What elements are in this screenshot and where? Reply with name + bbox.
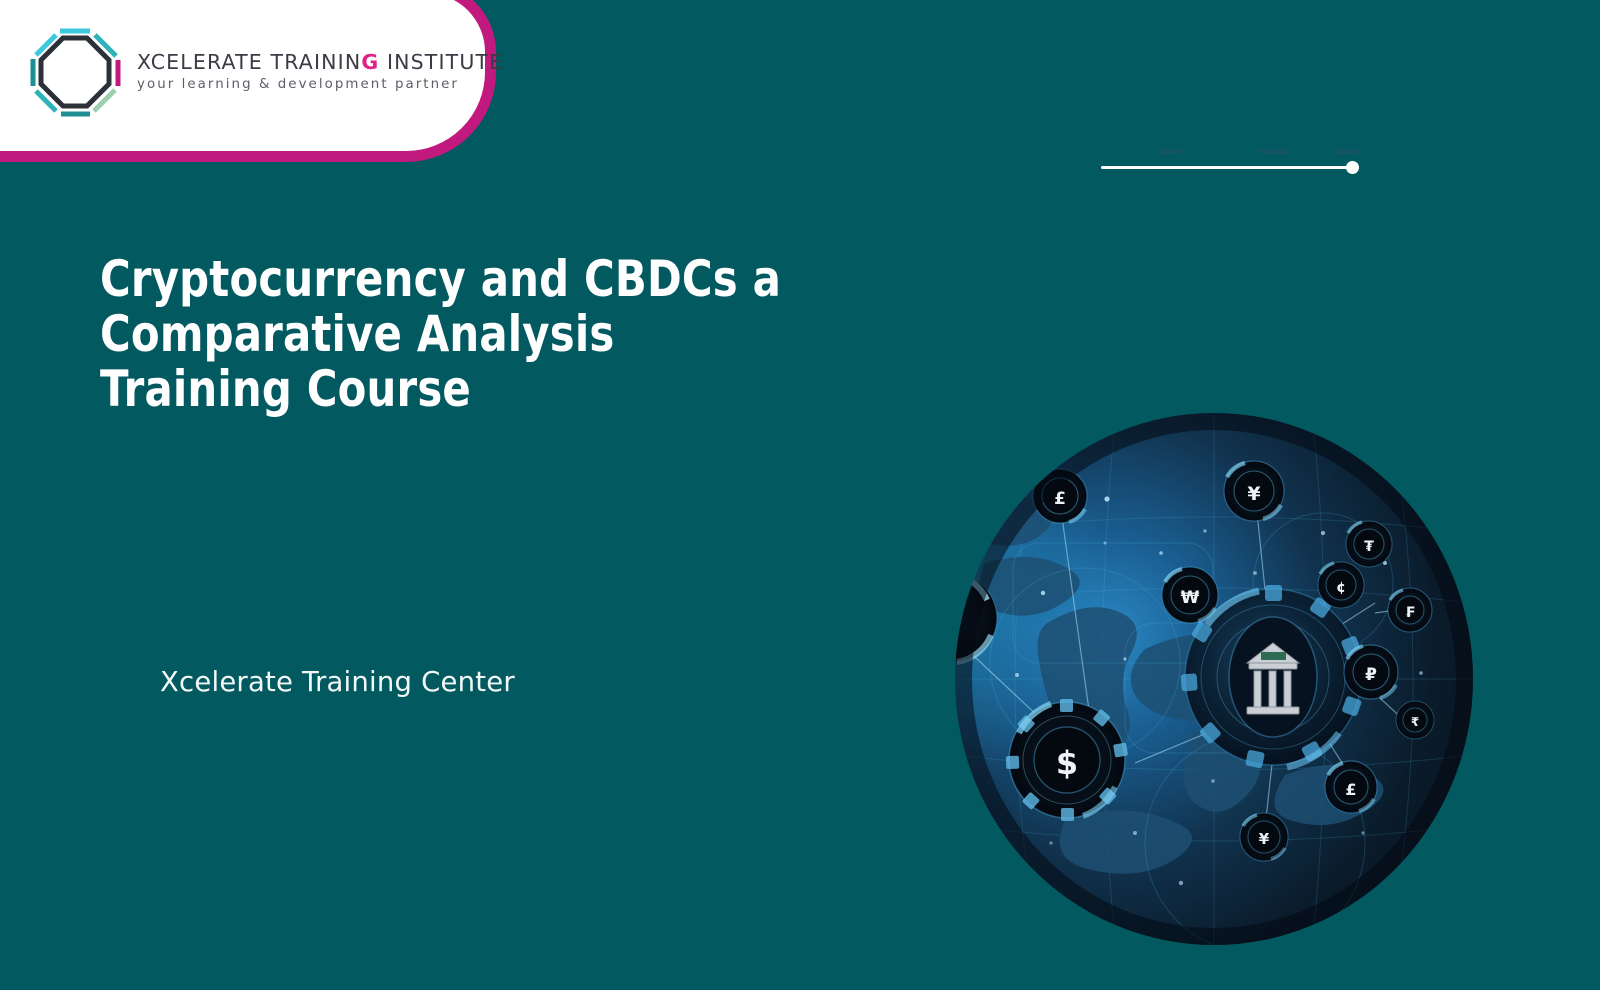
divider-ghost-mark-3 — [1335, 149, 1359, 154]
svg-text:₹: ₹ — [1411, 715, 1419, 729]
divider-endpoint-dot — [1346, 161, 1359, 174]
brand-logo-text: XCELERATE TRAINING INSTITUTE your learni… — [137, 51, 503, 93]
svg-text:¢: ¢ — [1336, 580, 1346, 596]
svg-text:₩: ₩ — [1181, 588, 1200, 608]
rupee-node: ₹ — [1396, 701, 1434, 739]
brand-name: XCELERATE TRAINING INSTITUTE — [137, 51, 503, 74]
ruble-node: ₽ — [1344, 645, 1398, 699]
brand-logo-card[interactable]: XCELERATE TRAINING INSTITUTE your learni… — [0, 0, 496, 162]
title-slide: XCELERATE TRAINING INSTITUTE your learni… — [0, 0, 1600, 990]
brand-name-accent-letter: G — [361, 50, 379, 74]
svg-text:₮: ₮ — [1364, 539, 1374, 555]
divider-ghost-mark-2 — [1259, 149, 1289, 154]
svg-text:$: $ — [1056, 744, 1078, 782]
franc-node: ₣ — [1388, 588, 1432, 632]
tugrik-node: ₮ — [1346, 521, 1392, 567]
subtitle: Xcelerate Training Center — [160, 666, 515, 698]
svg-text:¥: ¥ — [1247, 483, 1260, 505]
svg-text:£: £ — [1054, 489, 1066, 509]
dollar-node: $ — [1006, 699, 1128, 821]
brand-name-part-2: INSTITUTE — [379, 50, 503, 74]
svg-text:₽: ₽ — [1365, 665, 1377, 685]
yen-node: ¥ — [1224, 461, 1284, 521]
pound-node-2: £ — [1325, 761, 1377, 813]
svg-text:¥: ¥ — [1259, 830, 1270, 848]
won-node: ₩ — [1162, 567, 1218, 623]
divider-ghost-mark-1 — [1159, 149, 1181, 154]
brand-name-part-1: XCELERATE TRAININ — [137, 50, 361, 74]
svg-text:₣: ₣ — [1405, 605, 1415, 621]
page-title: Cryptocurrency and CBDCs a Comparative A… — [100, 252, 825, 417]
digital-currency-globe-illustration: $ £ ¥ — [955, 413, 1473, 945]
octagon-logo-icon — [29, 26, 121, 118]
brand-tagline: your learning & development partner — [137, 78, 503, 93]
cent-node: ¢ — [1318, 562, 1364, 608]
divider-line — [1101, 166, 1349, 169]
decorative-divider — [1101, 160, 1359, 176]
yen-node-2: ¥ — [1240, 813, 1288, 861]
svg-text:£: £ — [1345, 780, 1356, 799]
